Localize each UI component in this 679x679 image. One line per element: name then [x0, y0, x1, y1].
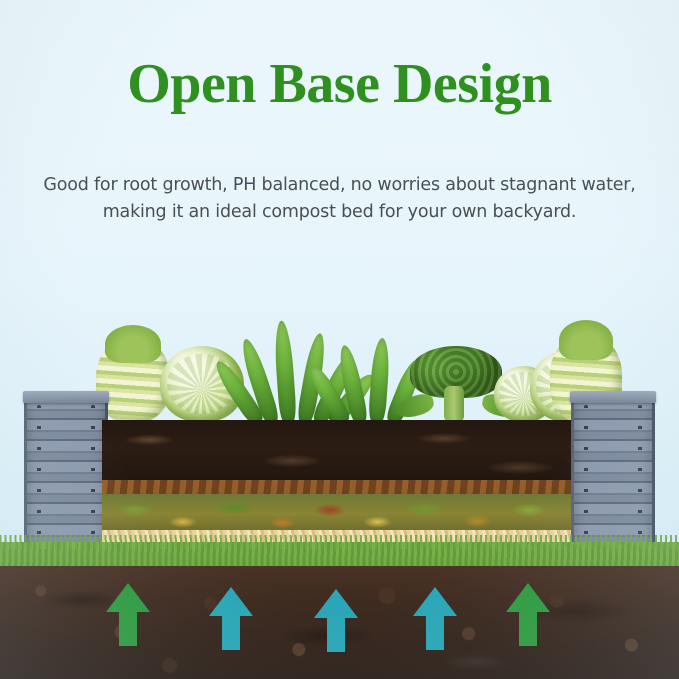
- subtitle-line-1: Good for root growth, PH balanced, no wo…: [0, 172, 679, 199]
- subtitle-line-2: making it an ideal compost bed for your …: [0, 199, 679, 226]
- airflow-arrow-1: [105, 582, 151, 648]
- planter-cap-right: [570, 391, 656, 403]
- layer-topsoil: [102, 420, 577, 486]
- airflow-arrow-2: [208, 586, 254, 652]
- layer-food-scraps: [102, 494, 577, 534]
- airflow-arrow-5: [505, 582, 551, 648]
- airflow-arrow-4: [412, 586, 458, 652]
- subtitle-text: Good for root growth, PH balanced, no wo…: [0, 172, 679, 226]
- product-feature-image: Open Base Design Good for root growth, P…: [0, 0, 679, 679]
- airflow-arrow-3: [313, 588, 359, 654]
- airflow-arrow-group: [0, 576, 679, 666]
- page-title: Open Base Design: [0, 52, 679, 116]
- planter-cap-left: [23, 391, 109, 403]
